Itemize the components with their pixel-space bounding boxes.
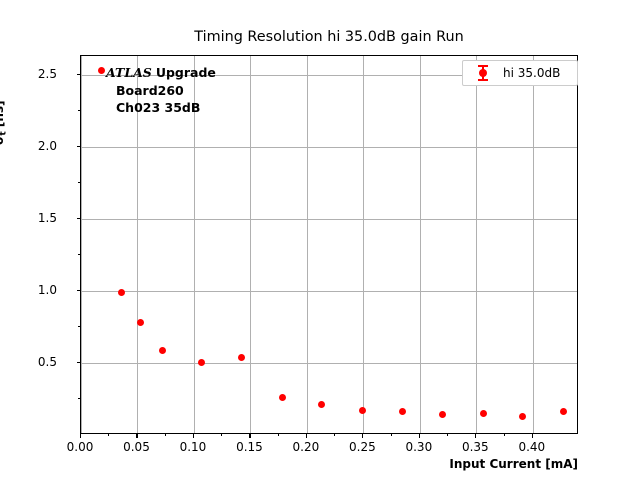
y-axis-minor-tick [78, 110, 80, 111]
x-axis-tick [80, 434, 81, 438]
y-axis-tick-label: 0.5 [38, 355, 57, 369]
gridline-horizontal [81, 291, 577, 292]
gridline-vertical [307, 56, 308, 433]
gridline-horizontal [81, 219, 577, 220]
data-point [159, 347, 166, 354]
data-point [279, 394, 286, 401]
legend-errorbar-marker-icon [463, 62, 503, 84]
x-axis-minor-tick [504, 434, 505, 436]
x-axis-tick-label: 0.10 [180, 440, 207, 454]
data-point [318, 401, 325, 408]
gridline-vertical [363, 56, 364, 433]
x-axis-tick [419, 434, 420, 438]
gridline-vertical [250, 56, 251, 433]
y-axis-label-subscript: t [0, 131, 8, 135]
y-axis-minor-tick [78, 182, 80, 183]
x-axis-tick [362, 434, 363, 438]
data-point [439, 411, 446, 418]
upgrade-text: Upgrade [156, 65, 216, 80]
gridline-horizontal [81, 363, 577, 364]
x-axis-tick-label: 0.30 [405, 440, 432, 454]
y-axis-label-unit: [ns] [0, 100, 6, 131]
data-point [480, 410, 487, 417]
data-point [359, 407, 366, 414]
x-axis-minor-tick [165, 434, 166, 436]
x-axis-minor-tick [334, 434, 335, 436]
data-point [118, 289, 125, 296]
x-axis-minor-tick [108, 434, 109, 436]
y-axis-tick [77, 146, 81, 147]
gridline-vertical [533, 56, 534, 433]
y-axis-tick-label: 2.0 [38, 139, 57, 153]
x-axis-tick [532, 434, 533, 438]
y-axis-tick [77, 362, 81, 363]
annotation-block: ATLAS Upgrade Board260 Ch023 35dB [106, 64, 216, 117]
data-point [98, 67, 105, 74]
x-axis-tick-label: 0.05 [123, 440, 150, 454]
y-axis-minor-tick [78, 326, 80, 327]
y-axis-tick [77, 74, 81, 75]
legend-label: hi 35.0dB [503, 66, 560, 80]
data-point [519, 413, 526, 420]
x-axis-minor-tick [278, 434, 279, 436]
y-axis-label-sigma: σ [0, 136, 6, 145]
y-axis-minor-tick [78, 254, 80, 255]
data-point [399, 408, 406, 415]
data-point [238, 354, 245, 361]
x-axis-tick-label: 0.35 [462, 440, 489, 454]
x-axis-tick-label: 0.20 [293, 440, 320, 454]
data-point [198, 359, 205, 366]
annotation-line-2: Board260 [106, 82, 216, 100]
y-axis-label: σt [ns] [0, 55, 32, 145]
annotation-line-1: ATLAS Upgrade [106, 64, 216, 82]
data-point [560, 408, 567, 415]
x-axis-tick-label: 0.25 [349, 440, 376, 454]
gridline-horizontal [81, 147, 577, 148]
y-axis-minor-tick [78, 398, 80, 399]
x-axis-minor-tick [221, 434, 222, 436]
x-axis-tick-label: 0.15 [236, 440, 263, 454]
x-axis-tick [136, 434, 137, 438]
x-axis-minor-tick [391, 434, 392, 436]
y-axis-tick-label: 1.5 [38, 211, 57, 225]
chart-title: Timing Resolution hi 35.0dB gain Run [80, 29, 578, 45]
x-axis-minor-tick [447, 434, 448, 436]
data-point [137, 319, 144, 326]
gridline-vertical [81, 56, 82, 433]
x-axis-tick [193, 434, 194, 438]
y-axis-tick [77, 290, 81, 291]
x-axis-tick [475, 434, 476, 438]
y-axis-tick-label: 2.5 [38, 67, 57, 81]
x-axis-tick-label: 0.00 [67, 440, 94, 454]
legend[interactable]: hi 35.0dB [462, 60, 578, 86]
atlas-text: ATLAS [106, 65, 152, 80]
gridline-vertical [420, 56, 421, 433]
annotation-line-3: Ch023 35dB [106, 99, 216, 117]
x-axis-label: Input Current [mA] [0, 457, 578, 471]
x-axis-tick [306, 434, 307, 438]
matplotlib-figure: Timing Resolution hi 35.0dB gain Run Inp… [0, 0, 640, 480]
y-axis-tick-label: 1.0 [38, 283, 57, 297]
gridline-vertical [476, 56, 477, 433]
y-axis-tick [77, 218, 81, 219]
x-axis-tick [249, 434, 250, 438]
x-axis-tick-label: 0.40 [518, 440, 545, 454]
